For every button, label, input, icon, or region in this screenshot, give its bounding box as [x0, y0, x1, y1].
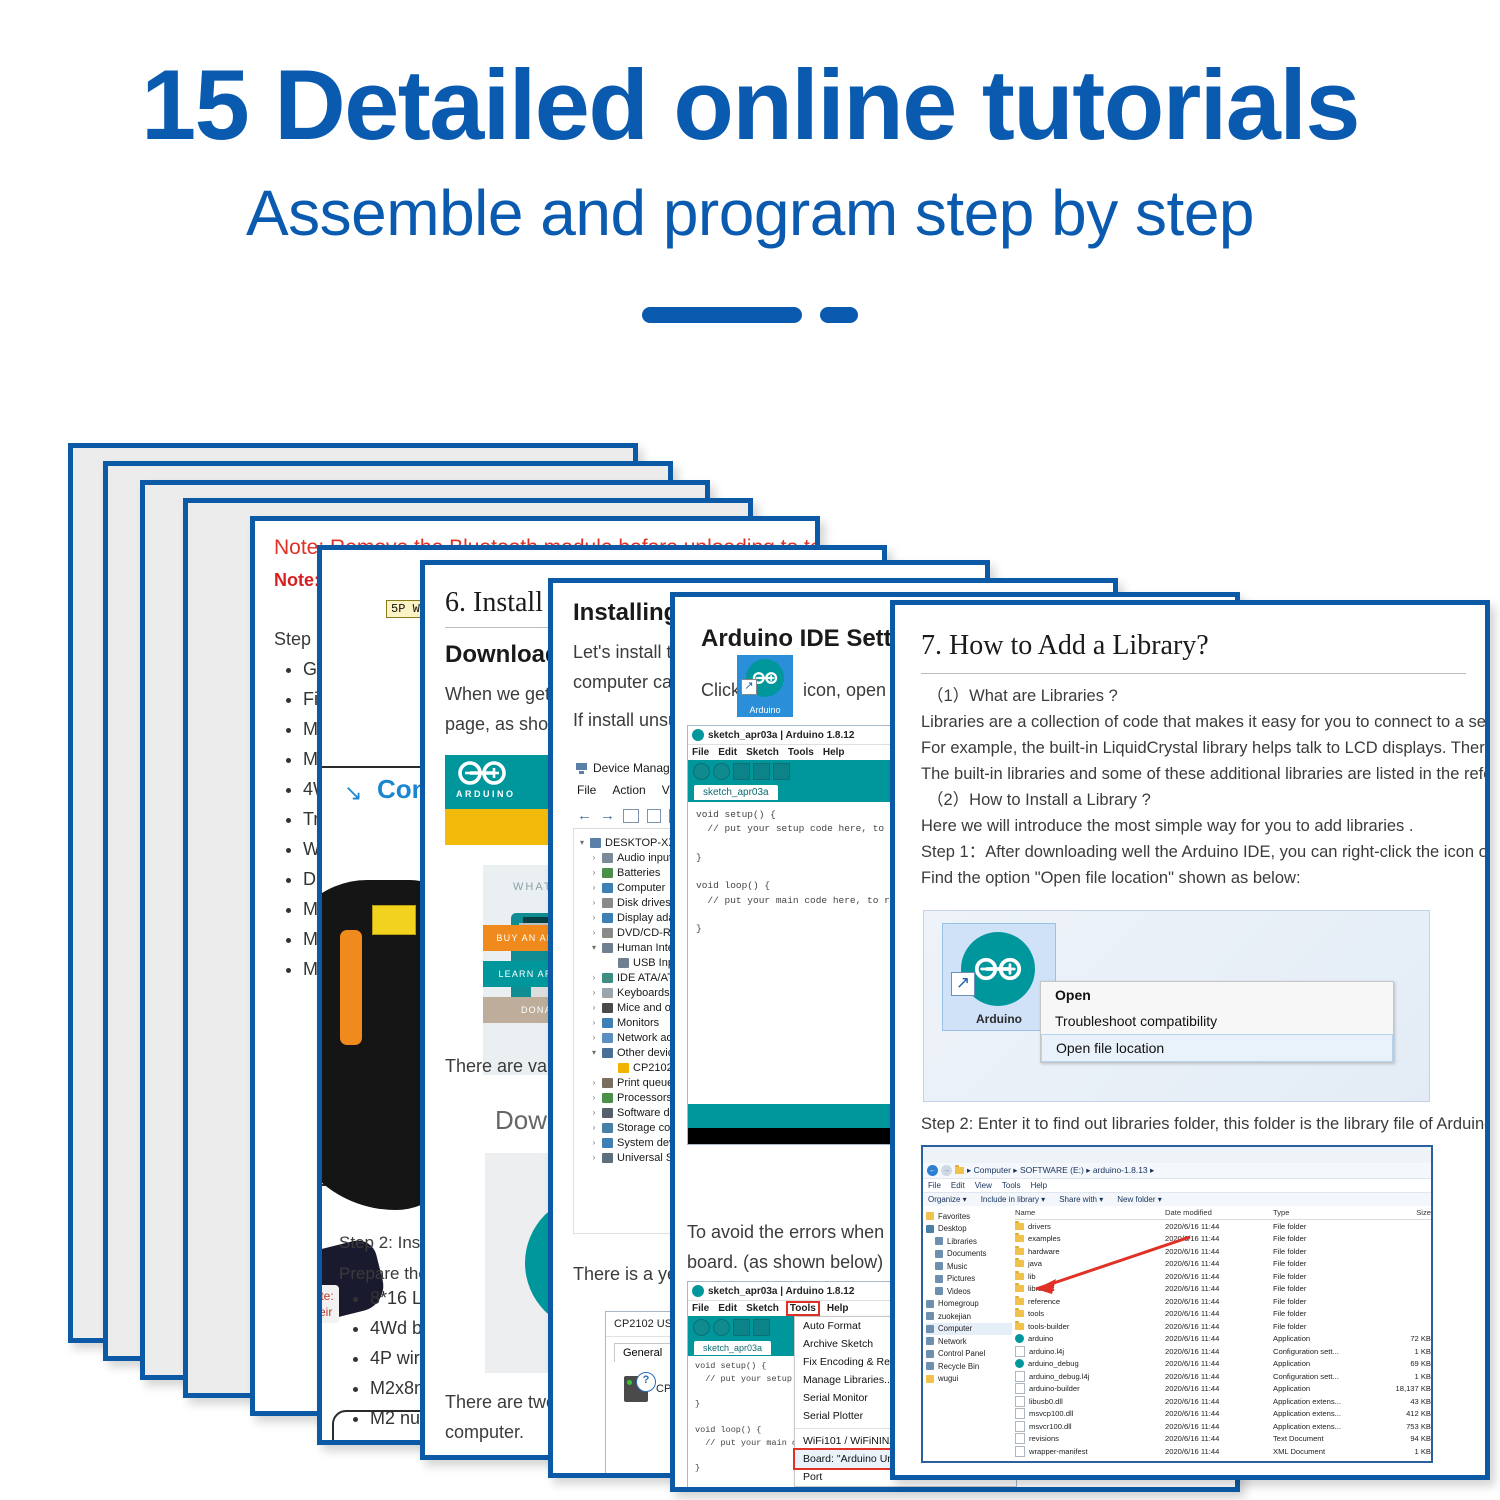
device-tree-item-label: Monitors	[617, 1017, 659, 1029]
chevron-right-icon[interactable]: ›	[590, 1108, 598, 1117]
file-type: Application extens...	[1273, 1422, 1373, 1431]
col-type[interactable]: Type	[1273, 1208, 1373, 1217]
file-name: arduino_debug	[1028, 1359, 1079, 1368]
ide-sketch-tab[interactable]: sketch_apr03a	[694, 785, 778, 800]
file-type: File folder	[1273, 1309, 1373, 1318]
table-row[interactable]: tools-builder2020/6/16 11:44File folder	[1015, 1320, 1431, 1333]
chevron-right-icon[interactable]: ›	[590, 1018, 598, 1027]
chevron-right-icon[interactable]: ›	[590, 883, 598, 892]
ide2-menu-file[interactable]: File	[692, 1303, 709, 1314]
monitor2-icon	[602, 1018, 613, 1028]
file-date: 2020/6/16 11:44	[1165, 1372, 1273, 1381]
file-size: 1 KB	[1373, 1372, 1431, 1381]
context-menu-item[interactable]: Open	[1041, 982, 1393, 1008]
dm-back-icon[interactable]: ←	[577, 807, 592, 824]
mouse-icon	[602, 1003, 613, 1013]
dm-properties-icon[interactable]	[647, 809, 661, 823]
file-date: 2020/6/16 11:44	[1165, 1322, 1273, 1331]
network-icon	[926, 1337, 934, 1345]
file-name: drivers	[1028, 1222, 1051, 1231]
file-type: File folder	[1273, 1234, 1373, 1243]
recycle-bin-icon	[926, 1362, 934, 1370]
hid-icon	[602, 943, 613, 953]
page6-rule	[921, 673, 1466, 674]
favorites-icon	[926, 1212, 934, 1220]
table-row[interactable]: arduino_debug.l4j2020/6/16 11:44Configur…	[1015, 1370, 1431, 1383]
arduino-brand-text: ARDUINO	[456, 789, 516, 799]
file-type: File folder	[1273, 1284, 1373, 1293]
file-size: 1 KB	[1373, 1447, 1431, 1456]
explorer-menu-item[interactable]: Edit	[951, 1181, 965, 1190]
dvd-icon	[602, 928, 613, 938]
zuokejian-icon	[926, 1312, 934, 1320]
dm-forward-icon[interactable]: →	[600, 807, 615, 824]
file-name: tools	[1028, 1309, 1044, 1318]
chevron-down-icon[interactable]: ▾	[578, 838, 586, 847]
note-chip-line2: Their	[322, 1305, 332, 1319]
file-type: File folder	[1273, 1297, 1373, 1306]
context-menu-item[interactable]: Troubleshoot compatibility	[1041, 1008, 1393, 1034]
arduino-ide-icon	[692, 1285, 704, 1297]
ide-menu-help[interactable]: Help	[823, 747, 845, 758]
col-date[interactable]: Date modified	[1165, 1208, 1273, 1217]
speaker-icon	[602, 853, 613, 863]
upload-icon[interactable]	[713, 1319, 730, 1336]
file-size: 1 KB	[1373, 1347, 1431, 1356]
file-size: 94 KB	[1373, 1434, 1431, 1443]
explorer-nav-item-label: Computer	[938, 1324, 972, 1333]
xml-icon	[1015, 1446, 1025, 1457]
chevron-right-icon[interactable]: ›	[590, 1123, 598, 1132]
ide-icon	[602, 973, 613, 983]
chevron-right-icon[interactable]: ›	[590, 928, 598, 937]
explorer-nav-item[interactable]: Music	[926, 1260, 1012, 1273]
file-type: Configuration sett...	[1273, 1372, 1373, 1381]
chevron-down-icon[interactable]: ▾	[590, 943, 598, 952]
explorer-nav-item-label: Videos	[947, 1287, 971, 1296]
text-icon	[1015, 1433, 1025, 1444]
pictures-icon	[935, 1275, 943, 1283]
chevron-right-icon[interactable]: ›	[590, 1078, 598, 1087]
page6-step2: Step 2: Enter it to find out libraries f…	[921, 1113, 1485, 1137]
page2-note-chip: Note: Their	[322, 1285, 339, 1323]
explorer-nav-item-label: Desktop	[938, 1224, 967, 1233]
usb2-icon	[602, 1153, 613, 1163]
explorer-nav-item[interactable]: Desktop	[926, 1223, 1012, 1236]
explorer-nav-item-label: wugui	[938, 1374, 958, 1383]
explorer-nav-item-label: zuokejian	[938, 1312, 971, 1321]
explorer-command-item[interactable]: Include in library ▾	[981, 1195, 1046, 1204]
chevron-right-icon[interactable]: ›	[590, 1033, 598, 1042]
arduino-icon-label: Arduino	[943, 1012, 1055, 1026]
file-name: wrapper-manifest	[1029, 1447, 1088, 1456]
dll-icon	[1015, 1396, 1025, 1407]
ide2-menu-tools[interactable]: Tools	[788, 1303, 818, 1314]
music-icon	[935, 1262, 943, 1270]
note-chip-line1: Note:	[322, 1289, 334, 1303]
explorer-nav-item-label: Music	[947, 1262, 967, 1271]
chevron-right-icon[interactable]: ›	[590, 913, 598, 922]
explorer-forward-icon[interactable]: →	[941, 1165, 952, 1176]
device-manager-icon	[575, 762, 588, 775]
table-row[interactable]: arduino.l4j2020/6/16 11:44Configuration …	[1015, 1345, 1431, 1358]
new-sketch-icon[interactable]	[733, 1319, 750, 1336]
explorer-nav-item[interactable]: Libraries	[926, 1235, 1012, 1248]
explorer-nav-item[interactable]: Computer	[926, 1323, 1012, 1336]
file-name: msvcp100.dll	[1029, 1409, 1073, 1418]
open-sketch-icon[interactable]	[753, 1319, 770, 1336]
file-size: 18,137 KB	[1373, 1384, 1431, 1393]
explorer-nav-item[interactable]: wugui	[926, 1373, 1012, 1386]
file-type: Text Document	[1273, 1434, 1373, 1443]
arduino-app-icon	[1015, 1359, 1024, 1368]
chevron-right-icon[interactable]: ›	[590, 1153, 598, 1162]
ide-menu-file[interactable]: File	[692, 747, 709, 758]
shortcut-arrow-icon: ↗	[741, 679, 757, 695]
explorer-menu-item[interactable]: Help	[1031, 1181, 1047, 1190]
table-row[interactable]: arduino-builder2020/6/16 11:44Applicatio…	[1015, 1383, 1431, 1396]
file-date: 2020/6/16 11:44	[1165, 1447, 1273, 1456]
file-date: 2020/6/16 11:44	[1165, 1434, 1273, 1443]
page6-p5: Step 1：After downloading well the Arduin…	[921, 841, 1485, 865]
chevron-right-icon[interactable]: ›	[590, 1003, 598, 1012]
computer-icon	[926, 1325, 934, 1333]
file-name: libusb0.dll	[1029, 1397, 1063, 1406]
explorer-nav-item-label: Pictures	[947, 1274, 975, 1283]
unknown-device-icon: ?	[624, 1376, 648, 1402]
chevron-right-icon[interactable]: ›	[590, 973, 598, 982]
homegroup-icon	[926, 1300, 934, 1308]
file-date: 2020/6/16 11:44	[1165, 1359, 1273, 1368]
table-row[interactable]: drivers2020/6/16 11:44File folder	[1015, 1220, 1431, 1233]
table-row[interactable]: revisions2020/6/16 11:44Text Document94 …	[1015, 1433, 1431, 1446]
videos-icon	[935, 1287, 943, 1295]
ide2-menu-sketch[interactable]: Sketch	[746, 1303, 779, 1314]
robot-orange-bar	[340, 930, 362, 1045]
explorer-nav-item-label: Homegroup	[938, 1299, 979, 1308]
table-row[interactable]: wrapper-manifest2020/6/16 11:44XML Docum…	[1015, 1445, 1431, 1458]
documents-icon	[935, 1250, 943, 1258]
device-tree-item-label: Keyboards	[617, 987, 670, 999]
tutorial-page-6[interactable]: 7. How to Add a Library? （1）What are Lib…	[890, 600, 1490, 1480]
explorer-titlebar	[923, 1147, 1431, 1163]
device-tree-item-label: Disk drives	[617, 897, 671, 909]
file-size: 753 KB	[1373, 1422, 1431, 1431]
dm-menu-action[interactable]: Action	[612, 783, 645, 797]
file-name: revisions	[1029, 1434, 1059, 1443]
col-size[interactable]: Size	[1373, 1208, 1431, 1217]
file-date: 2020/6/16 11:44	[1165, 1347, 1273, 1356]
file-date: 2020/6/16 11:44	[1165, 1222, 1273, 1231]
new-sketch-icon[interactable]	[733, 763, 750, 780]
file-name: tools-builder	[1028, 1322, 1069, 1331]
file-date: 2020/6/16 11:44	[1165, 1397, 1273, 1406]
explorer-command-item[interactable]: New folder ▾	[1117, 1195, 1161, 1204]
explorer-command-item[interactable]: Organize ▾	[928, 1195, 967, 1204]
ide-menu-tools[interactable]: Tools	[788, 747, 814, 758]
file-size: 412 KB	[1373, 1409, 1431, 1418]
file-date: 2020/6/16 11:44	[1165, 1409, 1273, 1418]
ide2-menu-edit[interactable]: Edit	[718, 1303, 737, 1314]
explorer-nav-pane[interactable]: FavoritesDesktopLibrariesDocumentsMusicP…	[923, 1206, 1015, 1458]
config-icon	[1015, 1371, 1025, 1382]
chevron-down-icon[interactable]: ▾	[590, 1048, 598, 1057]
file-type: File folder	[1273, 1222, 1373, 1231]
explorer-nav-item[interactable]: zuokejian	[926, 1310, 1012, 1323]
folder-icon	[955, 1167, 964, 1174]
page6-p1: Libraries are a collection of code that …	[921, 711, 1485, 735]
file-type: Application	[1273, 1359, 1373, 1368]
ide-menu-sketch[interactable]: Sketch	[746, 747, 779, 758]
file-type: Application	[1273, 1384, 1373, 1393]
folder-icon	[1015, 1310, 1024, 1317]
storage-icon	[602, 1123, 613, 1133]
system-icon	[602, 1138, 613, 1148]
folder-icon	[1015, 1323, 1024, 1330]
file-name: arduino.l4j	[1029, 1347, 1064, 1356]
desktop-context-menu[interactable]: OpenTroubleshoot compatibilityOpen file …	[1040, 981, 1394, 1063]
explorer-nav-item-label: Network	[938, 1337, 967, 1346]
explorer-menu-item[interactable]: View	[975, 1181, 992, 1190]
file-name: arduino_debug.l4j	[1029, 1372, 1089, 1381]
explorer-nav-item[interactable]: Videos	[926, 1285, 1012, 1298]
explorer-nav-item[interactable]: Control Panel	[926, 1348, 1012, 1361]
device-manager-title: Device Manager	[593, 761, 680, 775]
file-name: arduino-builder	[1029, 1384, 1080, 1393]
software-icon	[602, 1108, 613, 1118]
network-icon	[602, 1033, 613, 1043]
explorer-nav-item[interactable]: Pictures	[926, 1273, 1012, 1286]
file-type: File folder	[1273, 1259, 1373, 1268]
wugui-icon	[926, 1375, 934, 1383]
file-date: 2020/6/16 11:44	[1165, 1334, 1273, 1343]
computer-icon	[590, 838, 601, 848]
arduino-desktop-icon[interactable]: ↗ Arduino	[737, 655, 793, 717]
callout-arrow-icon: ↘	[344, 780, 362, 806]
monitor-icon	[602, 883, 613, 893]
explorer-nav-item[interactable]: Recycle Bin	[926, 1360, 1012, 1373]
explorer-nav-item[interactable]: Network	[926, 1335, 1012, 1348]
folder-icon	[1015, 1223, 1024, 1230]
page6-p3: The built-in libraries and some of these…	[921, 763, 1485, 787]
explorer-nav-item-label: Control Panel	[938, 1349, 985, 1358]
display-icon	[602, 913, 613, 923]
file-size: 43 KB	[1373, 1397, 1431, 1406]
verify-icon[interactable]	[693, 1319, 710, 1336]
shortcut-arrow-icon: ↗	[951, 972, 975, 996]
keyboard-icon	[602, 988, 613, 998]
table-row[interactable]: arduino_debug2020/6/16 11:44Application6…	[1015, 1358, 1431, 1371]
file-type: File folder	[1273, 1272, 1373, 1281]
file-date: 2020/6/16 11:44	[1165, 1422, 1273, 1431]
explorer-nav-item-label: Recycle Bin	[938, 1362, 979, 1371]
table-row[interactable]: msvcp100.dll2020/6/16 11:44Application e…	[1015, 1408, 1431, 1421]
device-tree-item-label: Computer	[617, 882, 665, 894]
explorer-nav-item-label: Favorites	[938, 1212, 970, 1221]
arduino-logo-icon	[455, 760, 509, 786]
ide-title: sketch_apr03a | Arduino 1.8.12	[708, 730, 854, 741]
breadcrumb[interactable]: ▸ Computer ▸ SOFTWARE (E:) ▸ arduino-1.8…	[967, 1165, 1154, 1176]
ide2-menu-help[interactable]: Help	[827, 1303, 849, 1314]
red-arrow-annotation-icon	[1018, 1233, 1198, 1303]
context-menu-screenshot: ↗ Arduino OpenTroubleshoot compatibility…	[923, 910, 1430, 1102]
arduino-app-icon	[1015, 1334, 1024, 1343]
explorer-column-headers[interactable]: Name Date modified Type Size	[1015, 1206, 1431, 1220]
page5-avoid-l2: board. (as shown below)	[687, 1249, 883, 1275]
ide-menu-edit[interactable]: Edit	[718, 747, 737, 758]
upload-icon[interactable]	[713, 763, 730, 780]
ide2-title: sketch_apr03a | Arduino 1.8.12	[708, 1286, 854, 1297]
chevron-right-icon[interactable]: ›	[590, 988, 598, 997]
device-tree-item-label: Batteries	[617, 867, 660, 879]
desktop-icon	[926, 1225, 934, 1233]
file-size: 72 KB	[1373, 1334, 1431, 1343]
chevron-right-icon[interactable]: ›	[590, 853, 598, 862]
verify-icon[interactable]	[693, 763, 710, 780]
dialog-tab-general[interactable]: General	[614, 1343, 671, 1362]
page6-heading: 7. How to Add a Library?	[921, 630, 1209, 662]
other-icon	[602, 1048, 613, 1058]
file-type: Application	[1273, 1334, 1373, 1343]
dll-icon	[1015, 1421, 1025, 1432]
file-type: Application extens...	[1273, 1409, 1373, 1418]
dm-menu-file[interactable]: File	[577, 783, 596, 797]
file-type: File folder	[1273, 1247, 1373, 1256]
arduino-desktop-icon-label: Arduino	[737, 705, 793, 715]
dll-icon	[1015, 1408, 1025, 1419]
explorer-back-icon[interactable]: ←	[927, 1165, 938, 1176]
table-row[interactable]: arduino2020/6/16 11:44Application72 KB	[1015, 1333, 1431, 1346]
file-type: Application extens...	[1273, 1397, 1373, 1406]
open-sketch-icon[interactable]	[753, 763, 770, 780]
device-tree-item-label: Processors	[617, 1092, 672, 1104]
ide2-sketch-tab[interactable]: sketch_apr03a	[694, 1341, 771, 1355]
warning-icon	[618, 1063, 629, 1073]
cpu-icon	[602, 1093, 613, 1103]
page5-click-pre: Click	[701, 677, 740, 703]
chevron-right-icon[interactable]: ›	[590, 1138, 598, 1147]
table-row[interactable]: libusb0.dll2020/6/16 11:44Application ex…	[1015, 1395, 1431, 1408]
col-name[interactable]: Name	[1015, 1208, 1165, 1217]
page6-q2: （2）How to Install a Library ?	[927, 789, 1151, 813]
explorer-menu-item[interactable]: File	[928, 1181, 941, 1190]
usb-icon	[618, 958, 629, 968]
table-row[interactable]: msvcr100.dll2020/6/16 11:44Application e…	[1015, 1420, 1431, 1433]
chevron-right-icon[interactable]: ›	[590, 868, 598, 877]
control-panel-icon	[926, 1350, 934, 1358]
file-size: 69 KB	[1373, 1359, 1431, 1368]
file-type: Configuration sett...	[1273, 1347, 1373, 1356]
file-type: File folder	[1273, 1322, 1373, 1331]
explorer-address-bar[interactable]: ← → ▸ Computer ▸ SOFTWARE (E:) ▸ arduino…	[923, 1163, 1431, 1178]
file-date: 2020/6/16 11:44	[1165, 1309, 1273, 1318]
explorer-command-bar[interactable]: Organize ▾Include in library ▾Share with…	[923, 1192, 1431, 1206]
arduino-desktop-icon[interactable]: ↗ Arduino	[942, 923, 1056, 1031]
explorer-command-item[interactable]: Share with ▾	[1059, 1195, 1103, 1204]
explorer-nav-item[interactable]: Favorites	[926, 1210, 1012, 1223]
windows-explorer-screenshot[interactable]: ← → ▸ Computer ▸ SOFTWARE (E:) ▸ arduino…	[921, 1145, 1433, 1463]
page6-p6: Find the option "Open file location" sho…	[921, 867, 1301, 891]
disk-icon	[602, 898, 613, 908]
arduino-ide-icon	[692, 729, 704, 741]
save-sketch-icon[interactable]	[773, 763, 790, 780]
document-stack: Note: Remove the Bluetooth module before…	[0, 0, 1500, 1500]
printer-icon	[602, 1078, 613, 1088]
page3-para3-l2: computer.	[445, 1419, 524, 1445]
file-type: XML Document	[1273, 1447, 1373, 1456]
chevron-right-icon[interactable]: ›	[590, 1093, 598, 1102]
page6-p4: Here we will introduce the most simple w…	[921, 815, 1413, 839]
file-date: 2020/6/16 11:44	[1165, 1384, 1273, 1393]
file-name: msvcr100.dll	[1029, 1422, 1072, 1431]
table-row[interactable]: tools2020/6/16 11:44File folder	[1015, 1308, 1431, 1321]
dm-view-icon[interactable]	[623, 809, 639, 823]
file-name: arduino	[1028, 1334, 1053, 1343]
explorer-nav-item[interactable]: Homegroup	[926, 1298, 1012, 1311]
explorer-menu-bar[interactable]: FileEditViewToolsHelp	[923, 1178, 1431, 1192]
libraries-icon	[935, 1237, 943, 1245]
config-icon	[1015, 1346, 1025, 1357]
robot-yellow-block	[372, 905, 416, 935]
arduino-infinity-icon	[973, 957, 1023, 982]
chevron-right-icon[interactable]: ›	[590, 898, 598, 907]
explorer-menu-item[interactable]: Tools	[1002, 1181, 1021, 1190]
page6-p2: For example, the built-in LiquidCrystal …	[921, 737, 1485, 761]
explorer-nav-item[interactable]: Documents	[926, 1248, 1012, 1261]
explorer-nav-item-label: Documents	[947, 1249, 986, 1258]
exe-icon	[1015, 1383, 1025, 1394]
context-menu-item[interactable]: Open file location	[1041, 1034, 1393, 1062]
battery-icon	[602, 868, 613, 878]
explorer-nav-item-label: Libraries	[947, 1237, 977, 1246]
page6-q1: （1）What are Libraries ?	[927, 685, 1118, 709]
